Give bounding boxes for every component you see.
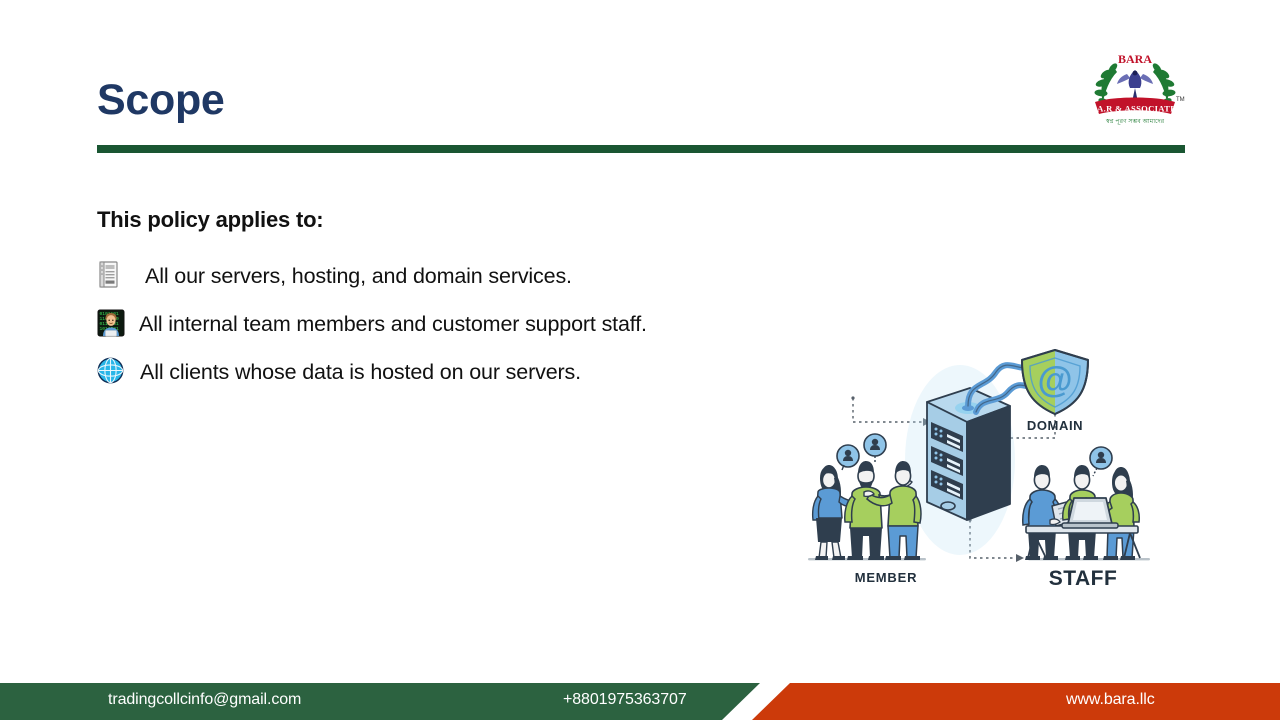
logo-trademark: TM bbox=[1176, 97, 1185, 103]
list-item: All our servers, hosting, and domain ser… bbox=[97, 252, 777, 300]
footer-phone[interactable]: +8801975363707 bbox=[563, 691, 687, 709]
globe-meridians-icon bbox=[97, 357, 131, 387]
domain-shield-icon: @ bbox=[1022, 350, 1088, 414]
list-item-label: All clients whose data is hosted on our … bbox=[131, 360, 581, 385]
title-underline-rule bbox=[97, 145, 1185, 153]
slide-canvas: Scope BARA bbox=[0, 0, 1280, 720]
page-title: Scope bbox=[97, 78, 225, 123]
list-item-label: All internal team members and customer s… bbox=[131, 312, 647, 337]
bara-associates-logo: BARA B.A.R & ASSOCIATES স্বপ্ন পূরণ সম্ভ… bbox=[1083, 44, 1187, 132]
footer-bar: tradingcollcinfo@gmail.com +880197536370… bbox=[0, 683, 1280, 720]
domain-label: DOMAIN bbox=[1027, 418, 1083, 433]
list-item: 0101101 1100110 0110101 1011001 All inte… bbox=[97, 300, 777, 348]
footer-email[interactable]: tradingcollcinfo@gmail.com bbox=[108, 691, 301, 709]
logo-tagline: স্বপ্ন পূরণ সম্ভব আমাদের bbox=[1105, 118, 1165, 125]
logo-brand-top: BARA bbox=[1118, 52, 1152, 66]
footer-website[interactable]: www.bara.llc bbox=[1066, 691, 1155, 709]
bullet-list: All our servers, hosting, and domain ser… bbox=[97, 252, 777, 396]
logo-brand-banner: B.A.R & ASSOCIATES bbox=[1089, 104, 1182, 114]
domain-at-symbol: @ bbox=[1037, 359, 1072, 400]
list-item-label: All our servers, hosting, and domain ser… bbox=[131, 264, 572, 289]
member-label: MEMBER bbox=[855, 570, 918, 585]
staff-label: STAFF bbox=[1049, 567, 1118, 590]
server-hosting-diagram: @ DOMAIN bbox=[790, 330, 1190, 610]
body-lede: This policy applies to: bbox=[97, 207, 323, 233]
footer-orange-band bbox=[752, 683, 1280, 720]
technologist-person-icon: 0101101 1100110 0110101 1011001 bbox=[97, 309, 131, 339]
list-item: All clients whose data is hosted on our … bbox=[97, 348, 777, 396]
document-page-icon bbox=[97, 261, 131, 291]
staff-group bbox=[1023, 447, 1150, 560]
